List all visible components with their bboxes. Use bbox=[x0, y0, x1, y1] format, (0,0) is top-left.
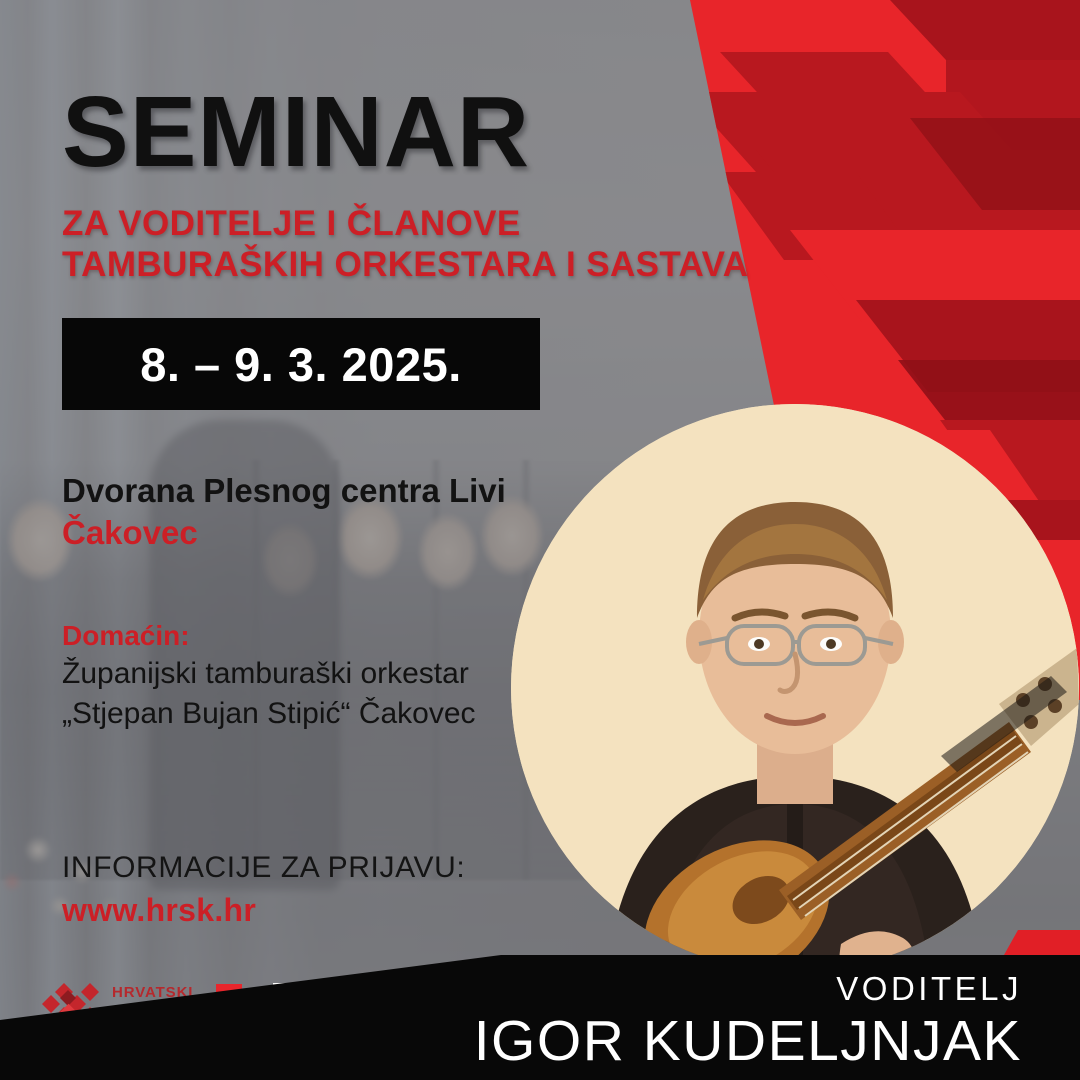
logo-strip: HRVATSKI SABOR KULTURE bbox=[38, 982, 329, 1040]
hrvatski-sabor-kulture-logo: HRVATSKI SABOR KULTURE bbox=[38, 982, 193, 1040]
venue-name: Dvorana Plesnog centra Livi bbox=[62, 472, 506, 509]
ministry-mark-icon bbox=[215, 982, 245, 1040]
poster-canvas: SEMINAR ZA VODITELJE I ČLANOVE TAMBURAŠK… bbox=[0, 0, 1080, 1080]
subtitle-line-1: ZA VODITELJE I ČLANOVE bbox=[62, 203, 748, 244]
cross-stitch-motif-icon bbox=[38, 982, 100, 1040]
date-text: 8. – 9. 3. 2025. bbox=[140, 337, 462, 392]
hsk-line-1: HRVATSKI bbox=[112, 984, 193, 1001]
ministry-of-culture-logo bbox=[215, 982, 251, 1040]
host-block: Domaćin: Županijski tamburaški orkestar … bbox=[62, 618, 476, 734]
host-line-1: Županijski tamburaški orkestar bbox=[62, 654, 476, 694]
hsk-wordmark: HRVATSKI SABOR KULTURE bbox=[112, 984, 193, 1039]
host-label: Domaćin: bbox=[62, 618, 476, 654]
info-label: INFORMACIJE ZA PRIJAVU: bbox=[62, 848, 465, 889]
hsk-line-2: SABOR bbox=[112, 1002, 171, 1019]
date-badge: 8. – 9. 3. 2025. bbox=[62, 318, 540, 410]
hsk-line-3: KULTURE bbox=[112, 1020, 189, 1037]
folk-costume-circle-logo bbox=[273, 983, 329, 1039]
subtitle: ZA VODITELJE I ČLANOVE TAMBURAŠKIH ORKES… bbox=[62, 203, 748, 286]
venue-city: Čakovec bbox=[62, 512, 506, 554]
host-line-2: „Stjepan Bujan Stipić“ Čakovec bbox=[62, 694, 476, 734]
presenter-portrait bbox=[511, 404, 1079, 972]
info-url[interactable]: www.hrsk.hr bbox=[62, 889, 465, 932]
info-block: INFORMACIJE ZA PRIJAVU: www.hrsk.hr bbox=[62, 848, 465, 932]
venue-block: Dvorana Plesnog centra Livi Čakovec bbox=[62, 470, 506, 554]
subtitle-line-2: TAMBURAŠKIH ORKESTARA I SASTAVA bbox=[62, 244, 748, 285]
page-title: SEMINAR bbox=[62, 82, 530, 182]
